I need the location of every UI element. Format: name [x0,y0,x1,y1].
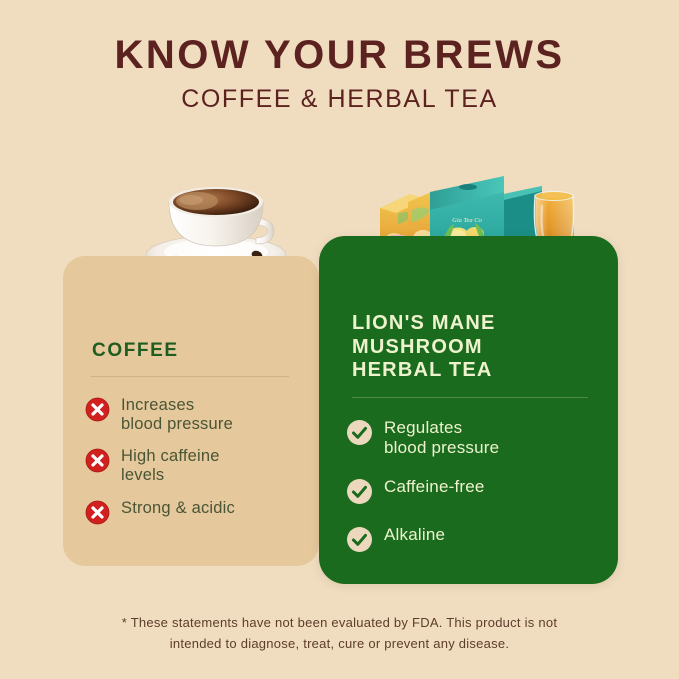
list-item-label: Caffeine-free [384,477,485,497]
list-item: Strong & acidic [85,499,305,525]
list-item: Caffeine-free [346,477,606,505]
page-title: KNOW YOUR BREWS [0,34,679,76]
coffee-comparison-panel: COFFEE Increases blood pressure High [63,256,319,566]
svg-text:Gia Tea Co: Gia Tea Co [452,217,482,224]
list-item-label: High caffeine levels [121,447,220,485]
x-circle-icon [85,500,110,525]
coffee-panel-heading: COFFEE [92,340,179,362]
x-circle-icon [85,448,110,473]
list-item: High caffeine levels [85,447,305,485]
tea-panel-heading: LION'S MANE MUSHROOM HERBAL TEA [352,312,496,383]
list-item: Increases blood pressure [85,396,305,434]
x-circle-icon [85,397,110,422]
page-subtitle: COFFEE & HERBAL TEA [0,86,679,112]
tea-panel-divider [352,397,588,398]
footer-disclaimer-text: * These statements have not been evaluat… [55,612,624,655]
list-item-label: Strong & acidic [121,499,235,518]
tea-feature-list: Regulates blood pressure Caffeine-free A… [346,418,606,573]
check-circle-icon [346,419,373,446]
coffee-feature-list: Increases blood pressure High caffeine l… [85,396,305,538]
header: KNOW YOUR BREWS COFFEE & HERBAL TEA [0,34,679,112]
check-circle-icon [346,478,373,505]
coffee-panel-divider [91,376,289,377]
footer-disclaimer: * These statements have not been evaluat… [0,612,679,655]
list-item-label: Regulates blood pressure [384,418,499,457]
list-item-label: Increases blood pressure [121,396,233,434]
list-item: Alkaline [346,525,606,553]
check-circle-icon [346,526,373,553]
list-item: Regulates blood pressure [346,418,606,457]
tea-comparison-panel: LION'S MANE MUSHROOM HERBAL TEA Regulate… [319,236,618,584]
list-item-label: Alkaline [384,525,445,545]
